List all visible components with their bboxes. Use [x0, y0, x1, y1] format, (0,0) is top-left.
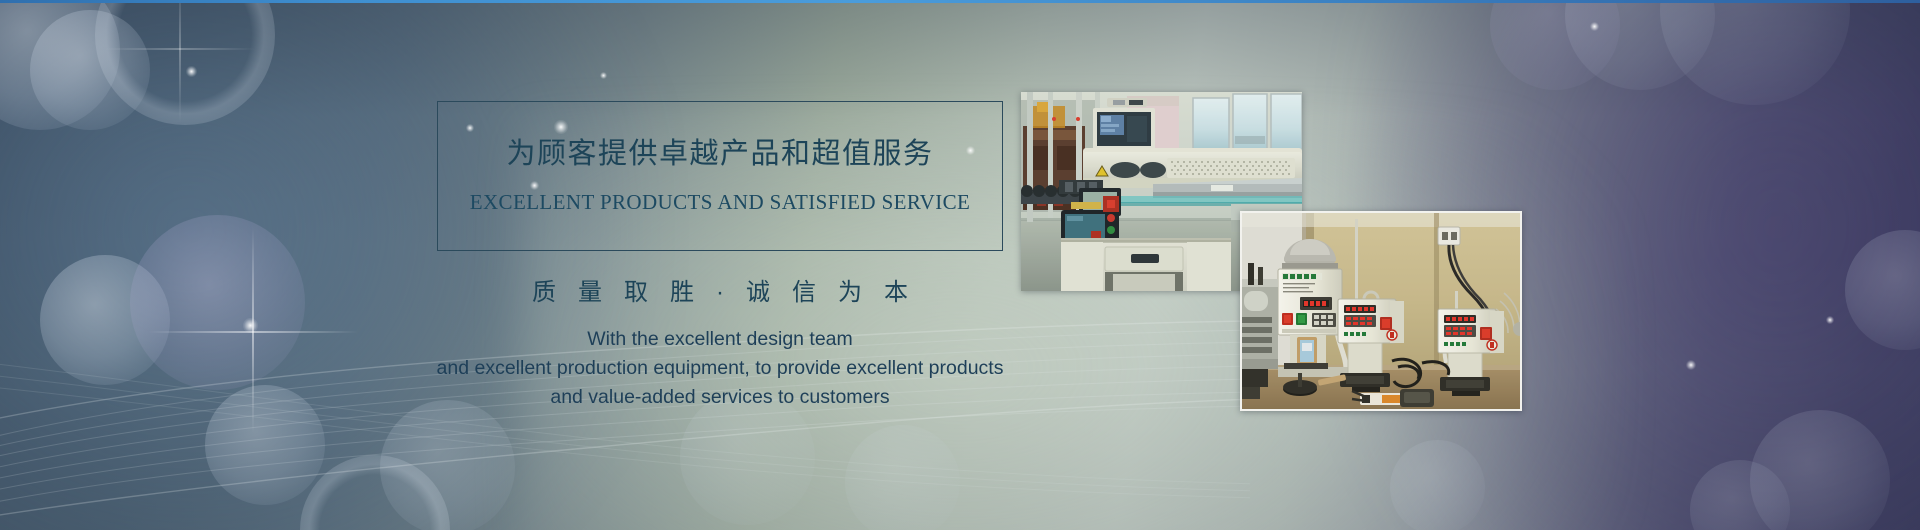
description-paragraph: With the excellent design team and excel…	[330, 325, 1110, 412]
description-line-1: With the excellent design team	[330, 325, 1110, 354]
description-line-3: and value-added services to customers	[330, 383, 1110, 412]
promotional-banner: 为顾客提供卓越产品和超值服务 EXCELLENT PRODUCTS AND SA…	[0, 0, 1920, 530]
press-machines-photo	[1240, 211, 1522, 411]
company-slogan: 质量取胜·诚信为本	[437, 272, 1003, 307]
page-title: 为顾客提供卓越产品和超值服务	[437, 130, 1003, 172]
headline-frame	[437, 101, 1003, 251]
page-subtitle: EXCELLENT PRODUCTS AND SATISFIED SERVICE	[437, 190, 1003, 215]
description-line-2: and excellent production equipment, to p…	[330, 354, 1110, 383]
